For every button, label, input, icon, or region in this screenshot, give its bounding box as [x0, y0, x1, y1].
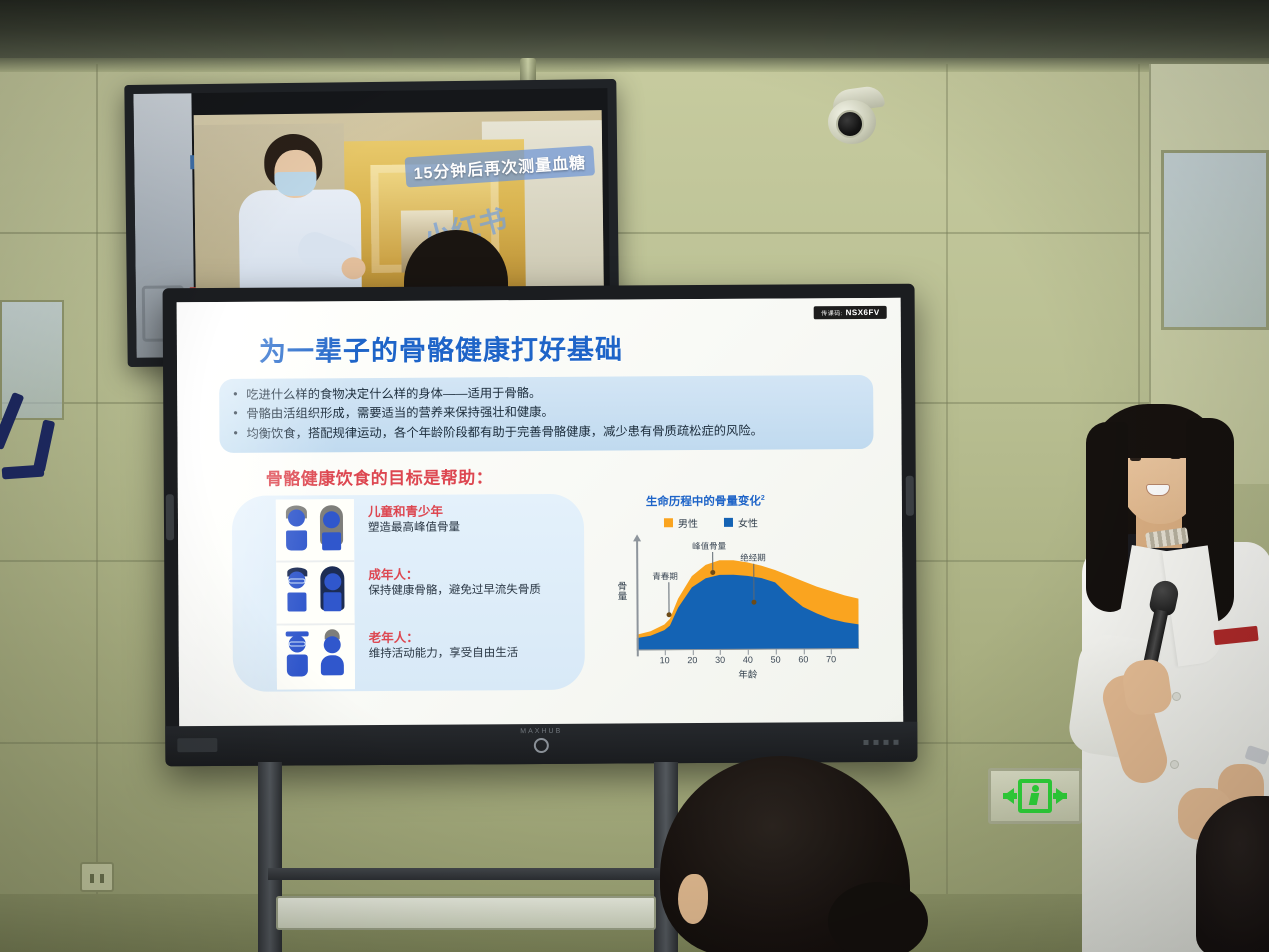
chart-title: 生命历程中的骨量变化2	[646, 492, 860, 509]
window-pane-right	[1161, 150, 1269, 330]
annotation-label-puberty: 青春期	[652, 570, 678, 582]
ceiling-slab	[0, 0, 1269, 64]
age-group-label: 成年人：	[368, 567, 541, 584]
board-stand-tray	[276, 896, 656, 930]
chart-title-superscript: 2	[761, 495, 765, 502]
wall-seam	[946, 64, 948, 952]
age-group-desc: 维持活动能力，享受自由生活	[369, 646, 519, 662]
chart-x-tick-label: 30	[715, 655, 725, 665]
age-group-label: 儿童和青少年	[368, 505, 460, 521]
board-side-button-left[interactable]	[166, 494, 174, 540]
age-group-row: 儿童和青少年 塑造最高峰值骨量	[276, 498, 576, 563]
board-display[interactable]: 传课码: NSX6FV 为一辈子的骨骼健康打好基础 吃进什么样的食物决定什么样的…	[177, 298, 904, 728]
bullet-item: 均衡饮食，搭配规律运动，各个年龄阶段都有助于完善骨骼健康，减少患有骨质疏松症的风…	[233, 421, 859, 444]
age-group-row: 成年人： 保持健康骨骼，避免过早流失骨质	[276, 561, 576, 626]
board-ir-receiver	[863, 740, 903, 745]
conference-room-scene: 小红书 15分钟后再次测量血糖 传课码: NSX6FV 为一辈子的骨骼健康打好基…	[0, 0, 1269, 952]
chart-x-tick-label: 70	[826, 654, 836, 664]
board-brand-label: MAXHUB	[520, 728, 562, 735]
chart-x-tick-label: 40	[743, 655, 753, 665]
chart-x-tick-label: 50	[771, 655, 781, 665]
legend-item-female: 女性	[724, 515, 758, 530]
chart-x-tick-label: 20	[687, 655, 697, 665]
chart-x-tick-label: 60	[798, 655, 808, 665]
age-group-desc: 保持健康骨骼，避免过早流失骨质	[368, 583, 541, 599]
legend-swatch-female	[724, 518, 733, 527]
age-group-label: 老年人：	[369, 630, 519, 647]
presentation-slide: 传课码: NSX6FV 为一辈子的骨骼健康打好基础 吃进什么样的食物决定什么样的…	[177, 298, 904, 728]
goal-heading: 骨骼健康饮食的目标是帮助：	[266, 461, 888, 490]
annotation-leader-menopause	[753, 564, 754, 602]
arrow-left-icon	[1003, 788, 1014, 804]
annotation-label-menopause: 绝经期	[740, 552, 766, 564]
age-groups-card: 儿童和青少年 塑造最高峰值骨量	[232, 494, 585, 692]
slide-watermark-badge: 传课码: NSX6FV	[814, 306, 887, 319]
annotation-label-peak: 峰值骨量	[692, 540, 726, 552]
chart-y-label: 骨量	[616, 583, 628, 603]
age-group-row: 老年人： 维持活动能力，享受自由生活	[277, 624, 577, 689]
emergency-exit-running-person-icon	[1018, 779, 1052, 813]
legend-swatch-male	[664, 518, 673, 527]
annotation-leader-puberty	[668, 582, 669, 614]
face-mask-icon	[274, 172, 316, 197]
ceiling-edge	[0, 58, 1269, 72]
wall-power-socket	[80, 862, 114, 892]
child-teen-figures-icon	[276, 499, 354, 562]
watermark-code: NSX6FV	[846, 308, 880, 317]
slide-title: 为一辈子的骨骼健康打好基础	[259, 326, 887, 369]
chart-x-tick-label: 10	[660, 655, 670, 665]
audience-member-center	[660, 756, 938, 952]
bone-mass-chart: 生命历程中的骨量变化2 男性 女性	[610, 492, 861, 690]
watermark-prefix: 传课码:	[821, 311, 843, 317]
legend-label-male: 男性	[678, 515, 698, 530]
wall-seam	[96, 64, 98, 952]
board-ports[interactable]	[177, 738, 217, 752]
board-stand-crossbar	[268, 868, 664, 880]
chart-x-label: 年龄	[738, 667, 757, 681]
adult-figures-icon	[276, 562, 354, 625]
wall-logo-graphic	[2, 392, 80, 502]
chart-title-text: 生命历程中的骨量变化	[646, 496, 761, 509]
elderly-figures-icon	[277, 625, 355, 688]
age-group-desc: 塑造最高峰值骨量	[368, 520, 460, 535]
interactive-whiteboard[interactable]: 传课码: NSX6FV 为一辈子的骨骼健康打好基础 吃进什么样的食物决定什么样的…	[163, 284, 918, 767]
dome-security-camera-icon	[826, 88, 888, 150]
legend-label-female: 女性	[738, 515, 758, 530]
chart-legend: 男性 女性	[664, 514, 860, 530]
board-side-button-right[interactable]	[906, 476, 914, 516]
slide-bullet-list: 吃进什么样的食物决定什么样的身体——适用于骨骼。 骨骼由活组织形成，需要适当的营…	[219, 375, 873, 453]
audience-member-right	[1196, 796, 1269, 952]
power-button-icon[interactable]	[534, 738, 549, 753]
legend-item-male: 男性	[664, 515, 698, 530]
chart-plot-area: 骨量 10203040506070 年龄 青春期 峰值骨量 绝经期	[636, 537, 859, 666]
